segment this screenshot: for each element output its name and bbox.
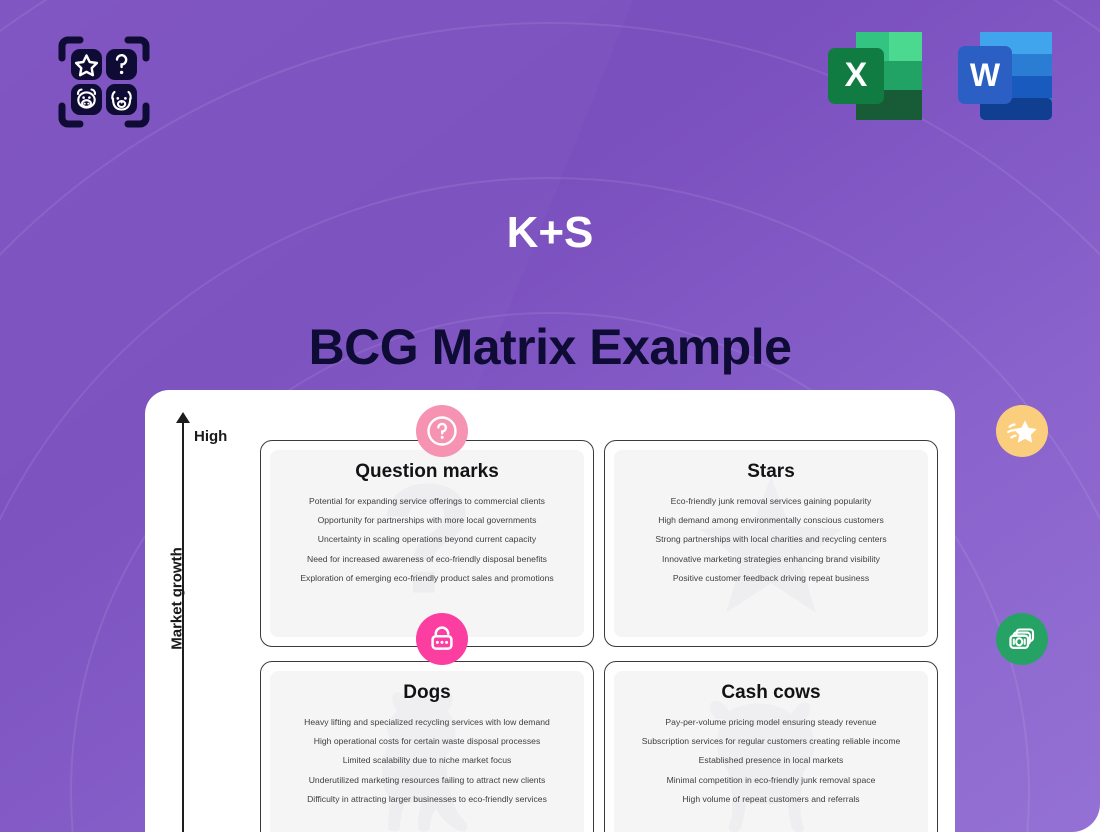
- list-item: Minimal competition in eco-friendly junk…: [614, 771, 928, 790]
- list-item: High demand among environmentally consci…: [614, 511, 928, 530]
- quadrant-panel: ? Question marks Potential for expanding…: [270, 450, 584, 637]
- shooting-star-icon[interactable]: [996, 405, 1048, 457]
- list-item: Established presence in local markets: [614, 751, 928, 770]
- list-item: Underutilized marketing resources failin…: [270, 771, 584, 790]
- list-item: Opportunity for partnerships with more l…: [270, 511, 584, 530]
- quadrant-panel: Stars Eco-friendly junk removal services…: [614, 450, 928, 637]
- page-title: BCG Matrix Example: [0, 318, 1100, 376]
- svg-text:X: X: [845, 56, 868, 94]
- list-item: Need for increased awareness of eco-frie…: [270, 550, 584, 569]
- list-item: Eco-friendly junk removal services gaini…: [614, 492, 928, 511]
- quadrant-cash-cows[interactable]: Cash cows Pay-per-volume pricing model e…: [604, 661, 938, 832]
- svg-text:W: W: [970, 57, 1001, 93]
- list-item: High operational costs for certain waste…: [270, 732, 584, 751]
- quadrant-title: Dogs: [403, 682, 451, 704]
- list-item: Pay-per-volume pricing model ensuring st…: [614, 713, 928, 732]
- list-item: Strong partnerships with local charities…: [614, 530, 928, 549]
- quadrant-question-marks[interactable]: ? Question marks Potential for expanding…: [260, 440, 594, 647]
- money-stack-icon[interactable]: [996, 613, 1048, 665]
- y-axis-title: Market growth: [169, 534, 186, 664]
- word-icon: W: [954, 28, 1056, 124]
- slide-canvas: X W K+S BCG Matrix Example High Market g…: [0, 0, 1100, 832]
- quadrant-stars[interactable]: Stars Eco-friendly junk removal services…: [604, 440, 938, 647]
- quadrant-item-list: Potential for expanding service offering…: [270, 492, 584, 588]
- quadrant-dogs[interactable]: Dogs Heavy lifting and specialized recyc…: [260, 661, 594, 832]
- quadrant-title: Question marks: [355, 461, 499, 483]
- quadrant-panel: Dogs Heavy lifting and specialized recyc…: [270, 671, 584, 832]
- list-item: Limited scalability due to niche market …: [270, 751, 584, 770]
- list-item: Potential for expanding service offering…: [270, 492, 584, 511]
- brand-logo-bcg-animals-icon: [54, 32, 154, 132]
- list-item: Difficulty in attracting larger business…: [270, 790, 584, 809]
- office-app-icons: X W: [824, 28, 1056, 124]
- quadrant-grid: ? Question marks Potential for expanding…: [260, 440, 938, 832]
- bcg-matrix-card: High Market growth ? Question marks Pote…: [145, 390, 955, 832]
- quadrant-title: Cash cows: [721, 682, 820, 704]
- quadrant-item-list: Heavy lifting and specialized recycling …: [270, 713, 584, 809]
- quadrant-panel: Cash cows Pay-per-volume pricing model e…: [614, 671, 928, 832]
- dog-collar-lock-icon[interactable]: [416, 613, 468, 665]
- brand-name: K+S: [0, 208, 1100, 258]
- y-axis-high-label: High: [194, 428, 227, 445]
- list-item: Heavy lifting and specialized recycling …: [270, 713, 584, 732]
- excel-icon: X: [824, 28, 926, 124]
- list-item: High volume of repeat customers and refe…: [614, 790, 928, 809]
- list-item: Positive customer feedback driving repea…: [614, 569, 928, 588]
- quadrant-title: Stars: [747, 461, 795, 483]
- list-item: Exploration of emerging eco-friendly pro…: [270, 569, 584, 588]
- list-item: Uncertainty in scaling operations beyond…: [270, 530, 584, 549]
- list-item: Innovative marketing strategies enhancin…: [614, 550, 928, 569]
- list-item: Subscription services for regular custom…: [614, 732, 928, 751]
- question-mark-icon[interactable]: [416, 405, 468, 457]
- quadrant-item-list: Eco-friendly junk removal services gaini…: [614, 492, 928, 588]
- quadrant-item-list: Pay-per-volume pricing model ensuring st…: [614, 713, 928, 809]
